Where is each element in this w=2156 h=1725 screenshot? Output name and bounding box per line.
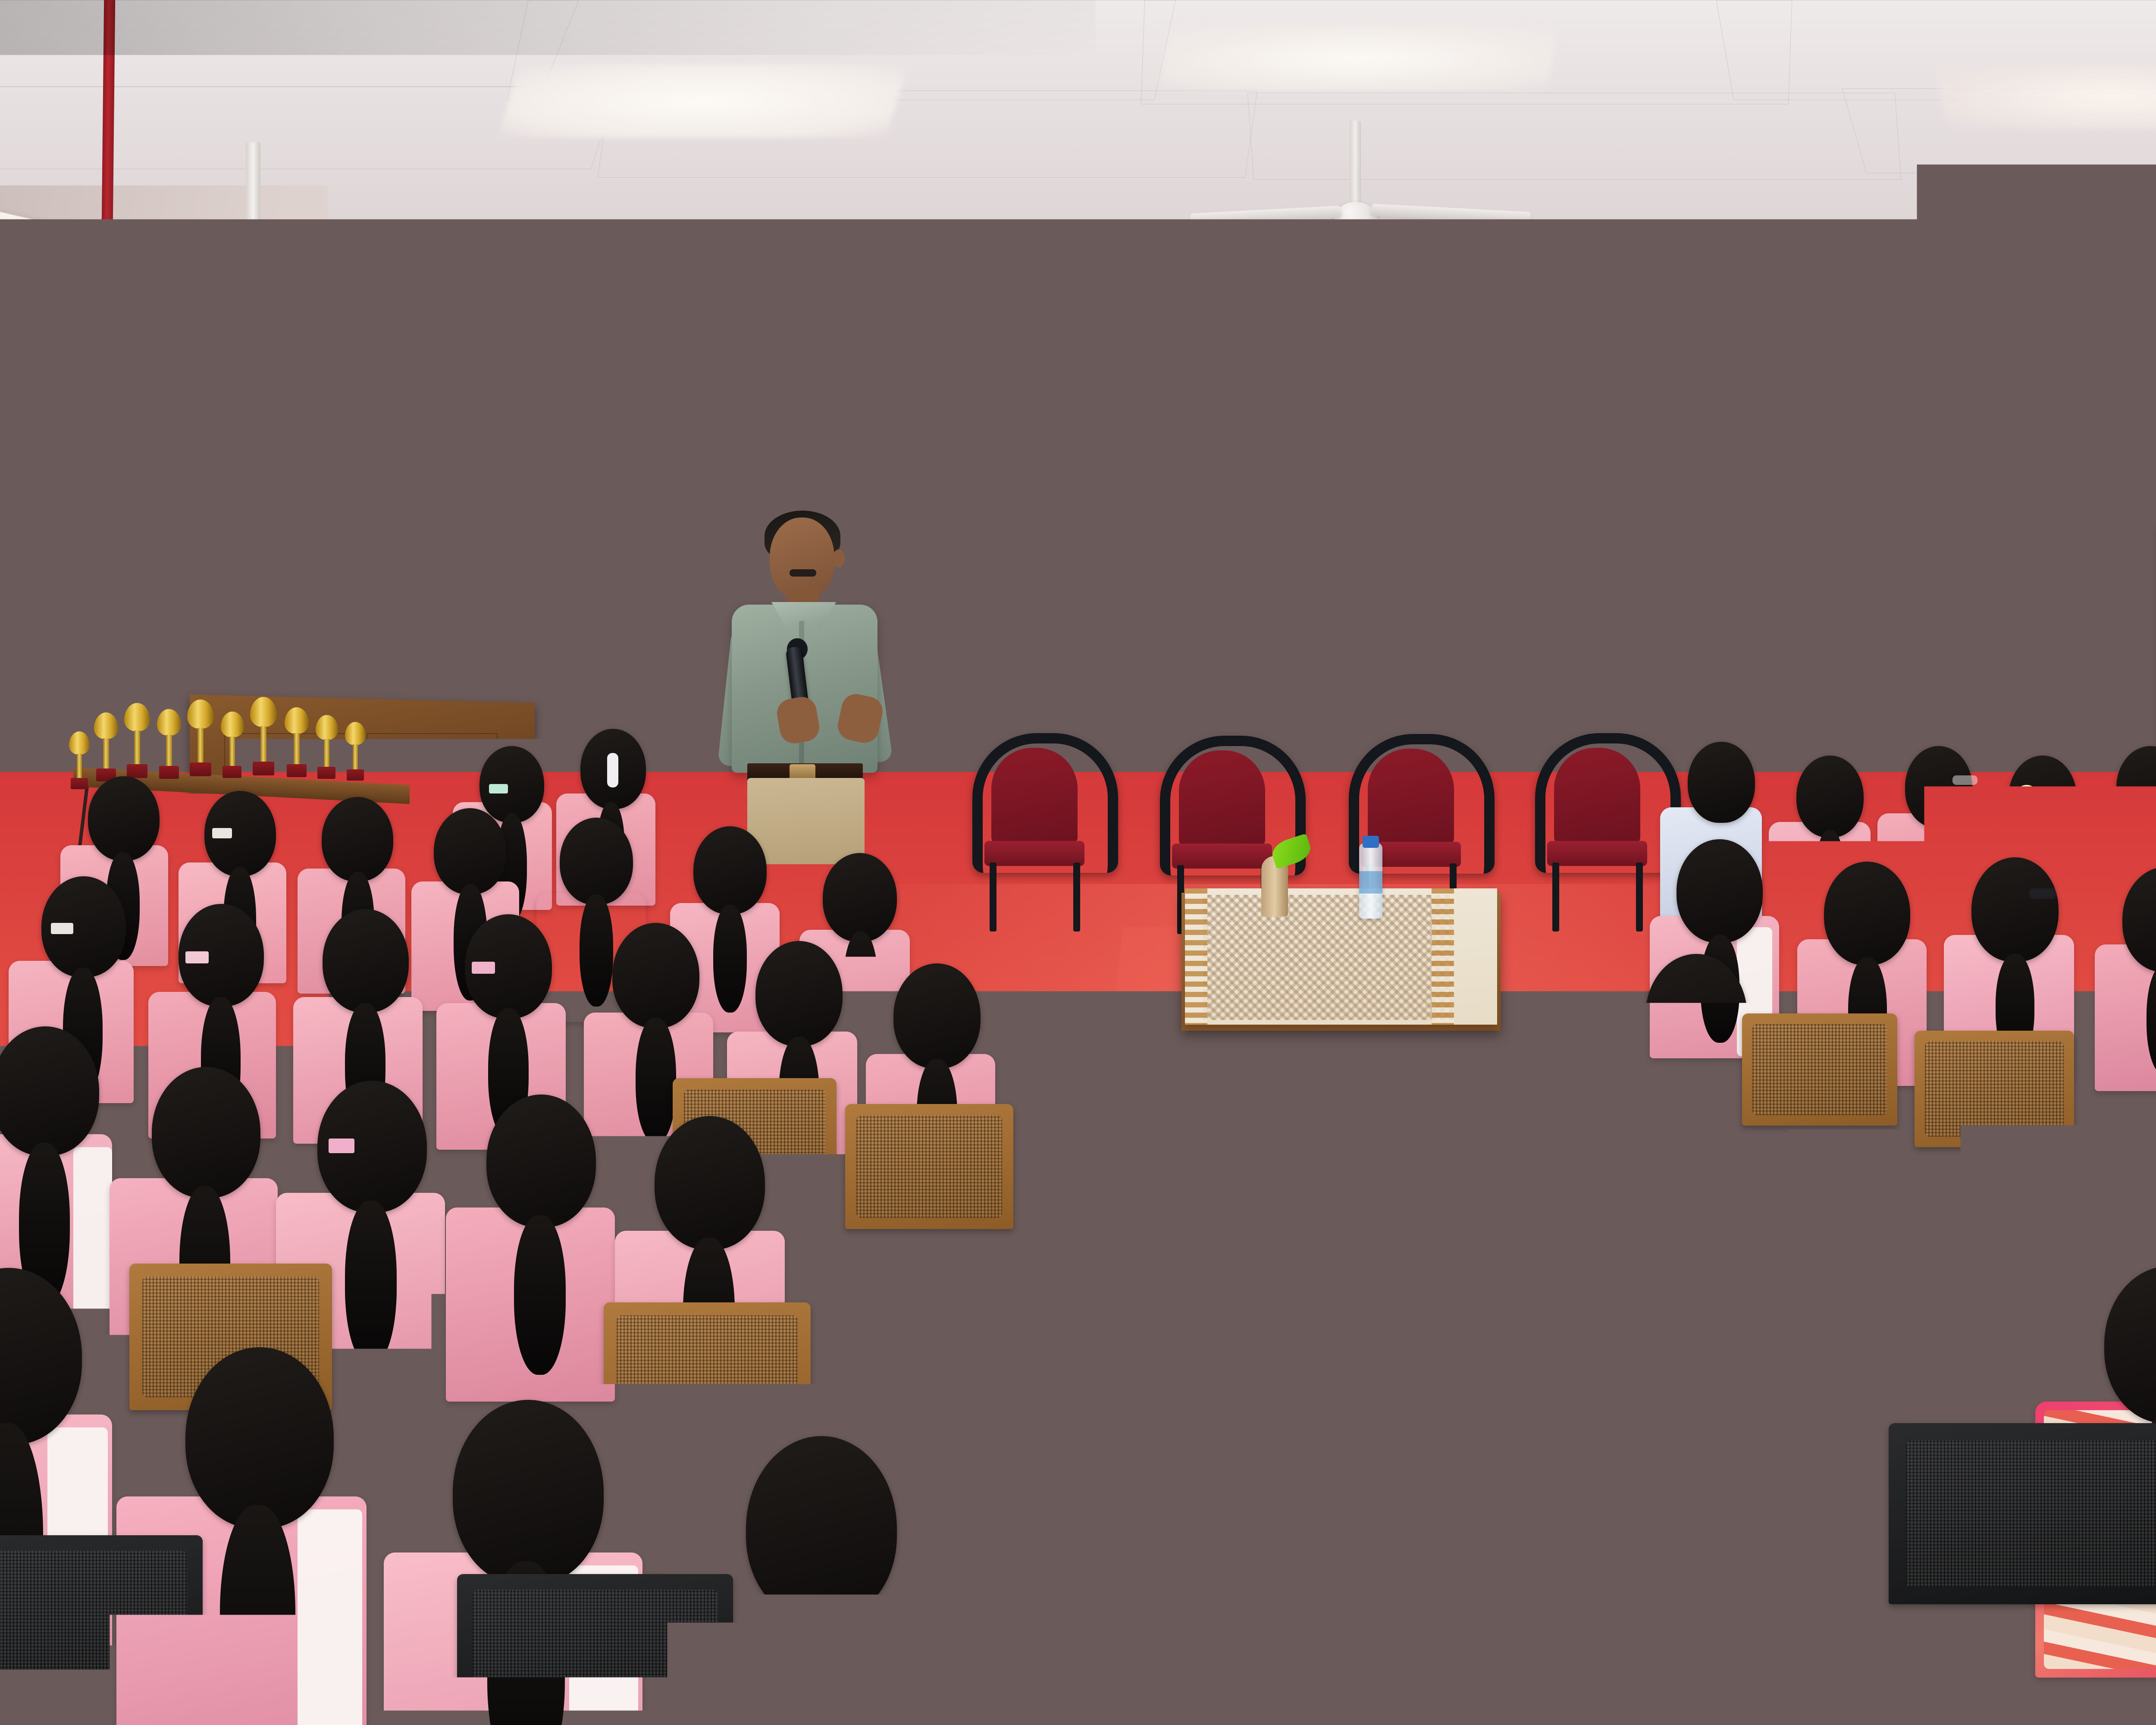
document-tab[interactable]: Cyber-Hygiene-Building-... ✕ bbox=[1105, 276, 1277, 297]
create-button[interactable]: + Create bbox=[1287, 278, 1344, 297]
rotate-icon[interactable] bbox=[1625, 629, 1645, 637]
photo-title-overlay: 16.02.2026 National Seminar on Cyber Hyg… bbox=[0, 52, 2156, 234]
read-aloud-icon[interactable] bbox=[1625, 423, 1645, 431]
audience-chair bbox=[604, 1302, 811, 1453]
upload-cloud-icon[interactable] bbox=[1475, 313, 1489, 326]
help-circle-icon[interactable] bbox=[1392, 281, 1406, 295]
water-bottle-label bbox=[1359, 871, 1382, 894]
plastic-chair bbox=[0, 1535, 203, 1725]
stage-2-node: 2 bbox=[1315, 577, 1336, 599]
hair-beads bbox=[607, 753, 618, 787]
stage-4-node: 4 bbox=[1315, 682, 1336, 703]
select-tool-icon[interactable] bbox=[1019, 421, 1052, 458]
stage-4-heading: Stage 4: The Blackmail bbox=[1358, 684, 1547, 698]
hamburger-menu-icon[interactable] bbox=[1022, 281, 1034, 291]
seminar-hall-photo: Menu Cyber-Hygiene-Building-... ✕ + Crea… bbox=[0, 0, 2156, 1725]
acrobat-document-area: Scenario 6: Sextortion—Let's Talk About … bbox=[1010, 379, 1655, 718]
hair-clip bbox=[212, 828, 232, 838]
acrobat-right-toolbar: 10 20 ^ ˅ bbox=[1620, 385, 1651, 715]
stamp-tool-icon[interactable] bbox=[1025, 628, 1046, 649]
close-window-button[interactable]: ✕ bbox=[1632, 280, 1644, 297]
slide-title: Scenario 6: Sextortion—Let's Talk About … bbox=[1094, 442, 1554, 469]
monitor-text-line bbox=[443, 657, 519, 659]
dais-chair bbox=[972, 733, 1097, 875]
ai-assistant-icon[interactable] bbox=[1625, 397, 1645, 405]
stage-2-heading: Stage 2: Emotional Bonding bbox=[1358, 580, 1547, 594]
stage-1-heading: Stage 1: Friendly Contact bbox=[1150, 518, 1322, 531]
microphone-clamp bbox=[484, 595, 509, 613]
speaker-moustache bbox=[790, 569, 816, 577]
stage-1-node: 1 bbox=[1315, 514, 1336, 536]
copy-pages-icon[interactable] bbox=[1625, 475, 1645, 483]
more-options-button[interactable]: ••• bbox=[1613, 314, 1629, 327]
sign-in-button[interactable]: Sign in bbox=[1473, 279, 1517, 296]
acrobat-titlebar: Menu Cyber-Hygiene-Building-... ✕ + Crea… bbox=[1010, 269, 1655, 305]
tab-title: Cyber-Hygiene-Building-... bbox=[1128, 280, 1255, 293]
page-current[interactable]: 10 bbox=[1623, 501, 1648, 517]
table-cloth-border bbox=[1185, 888, 1207, 1025]
star-icon[interactable] bbox=[1112, 281, 1123, 292]
page-total: 20 bbox=[1630, 536, 1641, 548]
view-summary-button[interactable]: View Summary bbox=[1501, 346, 1603, 370]
slide-intro-text: This is a tough topic, but we need to ta… bbox=[1094, 486, 1530, 506]
print-icon[interactable] bbox=[1516, 314, 1529, 326]
comment-icon[interactable] bbox=[1435, 313, 1448, 326]
dais-chair bbox=[1160, 736, 1285, 878]
hair-beads bbox=[1858, 1022, 1883, 1048]
hair-clip bbox=[472, 962, 495, 974]
search-icon[interactable] bbox=[1354, 312, 1367, 326]
microphone-head bbox=[459, 556, 481, 579]
hair-clip bbox=[489, 784, 508, 793]
curtain-left bbox=[664, 371, 711, 681]
restore-button[interactable]: ❐ bbox=[1603, 280, 1616, 297]
title-line-2: Artificial Intelligence & Data Science D… bbox=[0, 143, 2156, 235]
export-icon[interactable] bbox=[1625, 655, 1645, 663]
banner-fine-print: By using this service, you agree to the … bbox=[1045, 361, 1486, 369]
speaker-ear bbox=[833, 549, 845, 568]
clock-time: 11:30 bbox=[1578, 723, 1624, 734]
monitor-stand bbox=[479, 689, 505, 705]
table-cloth-border bbox=[1432, 888, 1454, 1025]
wall-panel-red-right bbox=[1884, 345, 1958, 655]
stage-3-node: 3 bbox=[1315, 621, 1336, 642]
title-line-1: 16.02.2026 National Seminar on Cyber Hyg… bbox=[0, 52, 2156, 143]
tool-all-tools[interactable]: All tools bbox=[1022, 311, 1063, 325]
tool-convert[interactable]: Convert bbox=[1118, 312, 1159, 325]
eyeglasses-icon bbox=[1952, 775, 1977, 785]
draw-tool-icon[interactable] bbox=[1025, 541, 1046, 562]
speaker-presenter bbox=[714, 509, 899, 854]
zoom-out-icon[interactable] bbox=[1625, 707, 1645, 715]
water-bottle-cap bbox=[1363, 836, 1379, 848]
find-input[interactable]: Find text or tools bbox=[1250, 312, 1336, 326]
create-label: Create bbox=[1305, 281, 1336, 293]
highlight-tool-icon[interactable] bbox=[1025, 498, 1046, 519]
zoom-in-icon[interactable] bbox=[1625, 681, 1645, 689]
plastic-chair bbox=[1889, 1423, 2156, 1604]
eyeglasses-icon bbox=[2029, 888, 2056, 899]
stage-1-body: Someone reaches out. Seems nice, friendl… bbox=[1123, 545, 1322, 568]
share-button[interactable]: Share bbox=[1559, 313, 1589, 326]
ai-assistant-banner: This appears to be a long document. Save… bbox=[1010, 333, 1655, 381]
projection-screen: Menu Cyber-Hygiene-Building-... ✕ + Crea… bbox=[1009, 268, 1656, 756]
menu-label[interactable]: Menu bbox=[1044, 280, 1072, 292]
page-up-icon[interactable]: ^ bbox=[1633, 565, 1638, 579]
minimize-button[interactable]: – bbox=[1579, 280, 1588, 297]
table-cloth-pattern bbox=[1203, 895, 1453, 1020]
page-down-icon[interactable]: ˅ bbox=[1632, 597, 1639, 611]
tool-edit[interactable]: Edit bbox=[1080, 311, 1100, 325]
headphones-icon[interactable] bbox=[1393, 313, 1408, 326]
home-icon[interactable] bbox=[1081, 279, 1096, 293]
wifi-router bbox=[548, 690, 630, 720]
tool-esign[interactable]: E-Sign bbox=[1176, 312, 1211, 325]
banner-message: This appears to be a long document. Save… bbox=[1045, 345, 1486, 359]
stage-3-body: "I want to see you." Convinces you to tu… bbox=[1123, 650, 1322, 674]
stage-2-body: Shares "personal" problems. Makes you fe… bbox=[1358, 606, 1538, 630]
dais-chair bbox=[1535, 733, 1660, 875]
hair-flower bbox=[2017, 785, 2036, 800]
curtain-right-inner bbox=[1789, 388, 1841, 716]
hair-clip bbox=[329, 1138, 354, 1153]
hair-clip bbox=[51, 923, 73, 934]
stage-3-heading: Stage 3: Video Call Request bbox=[1145, 624, 1322, 638]
stage-2-connector bbox=[1335, 587, 1353, 588]
app-grid-icon[interactable] bbox=[1437, 281, 1450, 294]
pdf-slide: Scenario 6: Sextortion—Let's Talk About … bbox=[1067, 405, 1576, 756]
plus-icon: + bbox=[1294, 280, 1301, 294]
audience-chair bbox=[845, 1104, 1013, 1229]
speaker-head bbox=[770, 517, 834, 599]
text-tool-icon[interactable] bbox=[1025, 585, 1046, 605]
hair-clip bbox=[185, 951, 209, 963]
banner-close-button[interactable]: ✕ bbox=[1623, 351, 1633, 366]
tab-close-icon[interactable]: ✕ bbox=[1260, 279, 1271, 295]
stage-4-connector bbox=[1335, 692, 1353, 693]
plastic-chair bbox=[457, 1574, 733, 1725]
acrobat-toolbar: All tools Edit Convert E-Sign Find text … bbox=[1010, 303, 1655, 335]
bookmark-icon[interactable] bbox=[1625, 449, 1645, 457]
speaker-trousers bbox=[747, 778, 865, 864]
ai-summary-icon bbox=[1022, 349, 1036, 364]
